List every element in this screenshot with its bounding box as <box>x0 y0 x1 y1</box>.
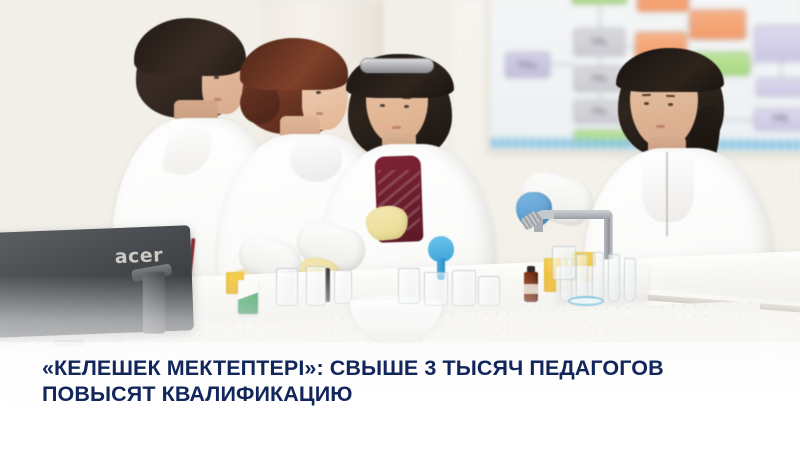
headline: «КЕЛЕШЕК МЕКТЕПТЕРІ»: СВЫШЕ 3 ТЫСЯЧ ПЕДА… <box>42 355 732 408</box>
test-tube <box>608 254 620 302</box>
acer-logo: acer <box>114 244 163 268</box>
monitor-stand <box>143 272 165 334</box>
news-hero-image: CnH2n+2 CnH2n CnH2n CnH2n R-NH2 <box>0 0 800 450</box>
beaker <box>478 276 500 306</box>
test-tube <box>592 252 604 302</box>
green-reagent-box <box>238 280 258 314</box>
graduated-cylinder <box>306 266 326 306</box>
beaker <box>452 270 476 306</box>
poster-box <box>637 0 689 12</box>
poster-box <box>572 0 627 5</box>
poster-box <box>689 9 746 40</box>
acer-monitor: acer <box>0 225 194 338</box>
hair-front <box>616 48 724 92</box>
test-tube <box>576 254 588 302</box>
headline-line-2: ПОВЫСЯТ КВАЛИФИКАЦИЮ <box>42 381 732 408</box>
coat-lapel <box>642 152 694 222</box>
tower-slot <box>54 339 84 347</box>
coat-placket <box>666 152 668 236</box>
beaker <box>276 268 298 306</box>
safety-goggles <box>360 58 434 73</box>
beaker-tall <box>552 246 576 280</box>
test-tube-small <box>334 270 352 304</box>
test-tube <box>624 258 636 302</box>
petri-dish <box>568 296 604 306</box>
poster-box: CnH2n+2 <box>505 52 550 78</box>
amber-bottle-label <box>524 284 538 294</box>
headline-line-1: «КЕЛЕШЕК МЕКТЕПТЕРІ»: СВЫШЕ 3 ТЫСЯЧ ПЕДА… <box>42 355 732 382</box>
poster-box <box>756 78 800 96</box>
beaker <box>424 272 448 306</box>
beaker <box>398 268 420 304</box>
poster-box: R-NH2 <box>754 108 800 131</box>
poster-box <box>754 25 800 62</box>
